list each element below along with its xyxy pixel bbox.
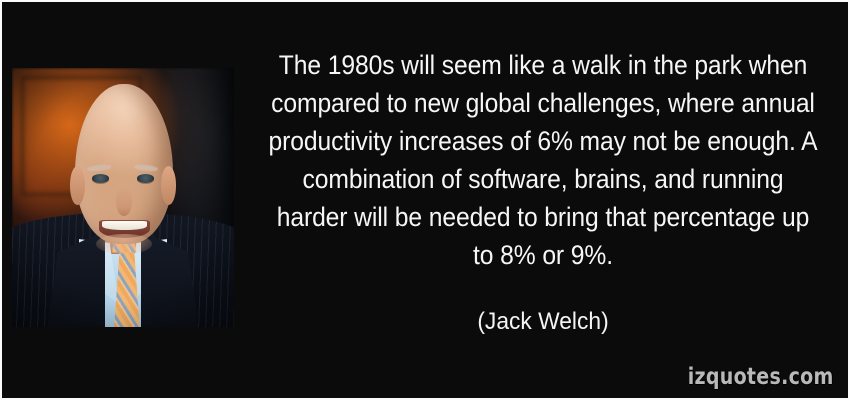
quote-card: The 1980s will seem like a walk in the p… [0, 0, 850, 400]
portrait-photo [12, 68, 234, 327]
quote-body: The 1980s will seem like a walk in the p… [246, 46, 840, 337]
site-watermark: izquotes.com [688, 364, 834, 390]
quote-text: The 1980s will seem like a walk in the p… [267, 46, 819, 274]
photo-vignette [12, 68, 234, 327]
quote-author: (Jack Welch) [261, 307, 825, 337]
